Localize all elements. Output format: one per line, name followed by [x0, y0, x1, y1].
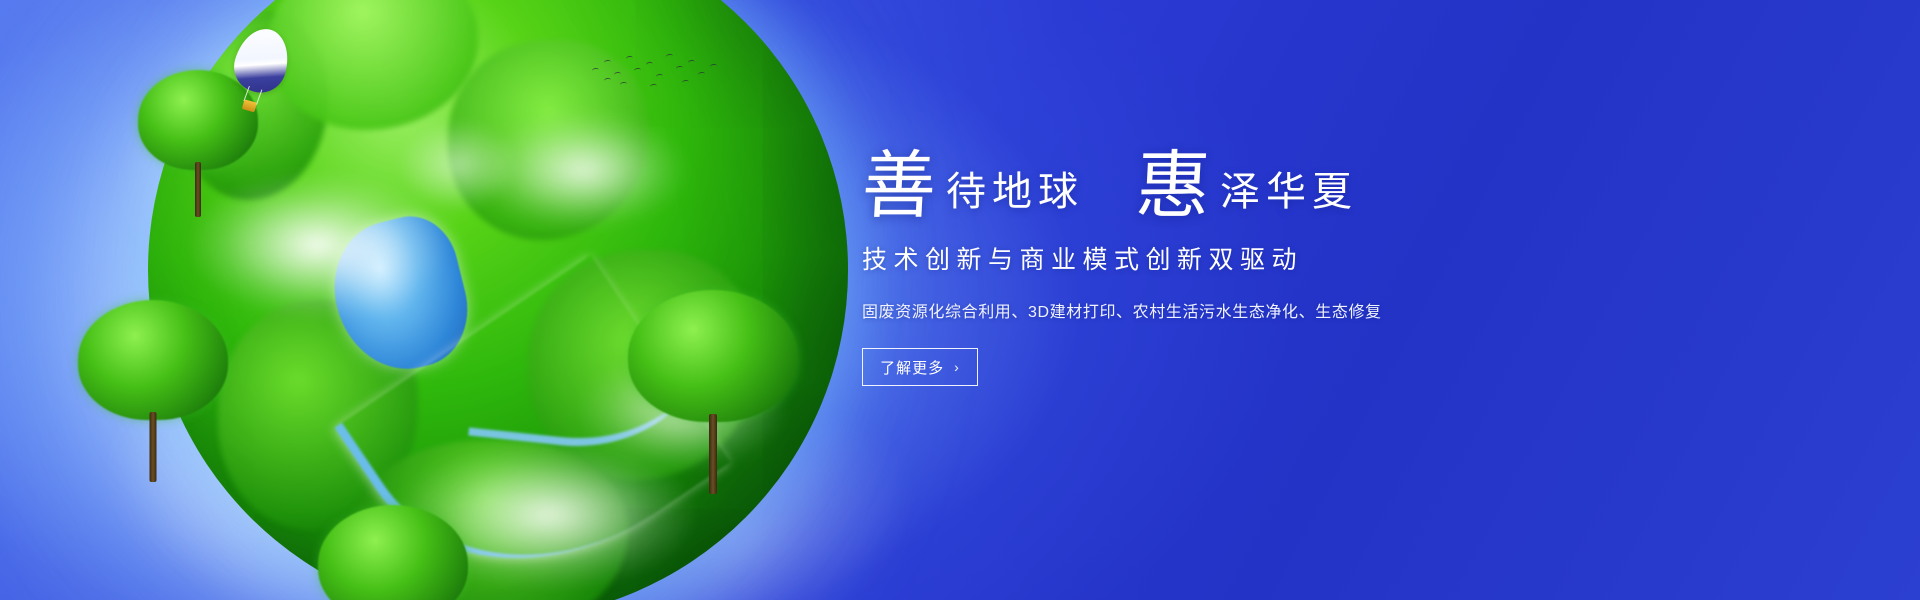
- tree-icon: [628, 290, 798, 422]
- headline-small-text-daidiqiu: 待地球: [946, 172, 1084, 212]
- chevron-right-icon: ›: [954, 359, 960, 375]
- tree-icon: [78, 300, 228, 420]
- learn-more-button[interactable]: 了解更多 ›: [862, 348, 978, 386]
- hero-description: 固废资源化综合利用、3D建材打印、农村生活污水生态净化、生态修复: [862, 298, 1562, 322]
- bird-flock-icon: [590, 48, 730, 94]
- headline-big-char-shan: 善: [860, 150, 938, 224]
- headline-part-two: 惠 泽华夏: [1136, 144, 1358, 218]
- headline-big-char-hui: 惠: [1134, 150, 1212, 224]
- learn-more-label: 了解更多: [880, 357, 944, 378]
- cloud: [188, 170, 448, 320]
- headline-small-text-zehuaxia: 泽华夏: [1220, 172, 1358, 212]
- hero-banner: 善 待地球 惠 泽华夏 技术创新与商业模式创新双驱动 固废资源化综合利用、3D建…: [0, 0, 1920, 600]
- cloud: [478, 110, 688, 230]
- hero-subtitle: 技术创新与商业模式创新双驱动: [862, 240, 1562, 276]
- headline-part-one: 善 待地球: [862, 144, 1084, 218]
- page-title: 善 待地球 惠 泽华夏: [862, 126, 1562, 218]
- tree-icon: [318, 505, 468, 600]
- hero-copy-block: 善 待地球 惠 泽华夏 技术创新与商业模式创新双驱动 固废资源化综合利用、3D建…: [862, 126, 1562, 386]
